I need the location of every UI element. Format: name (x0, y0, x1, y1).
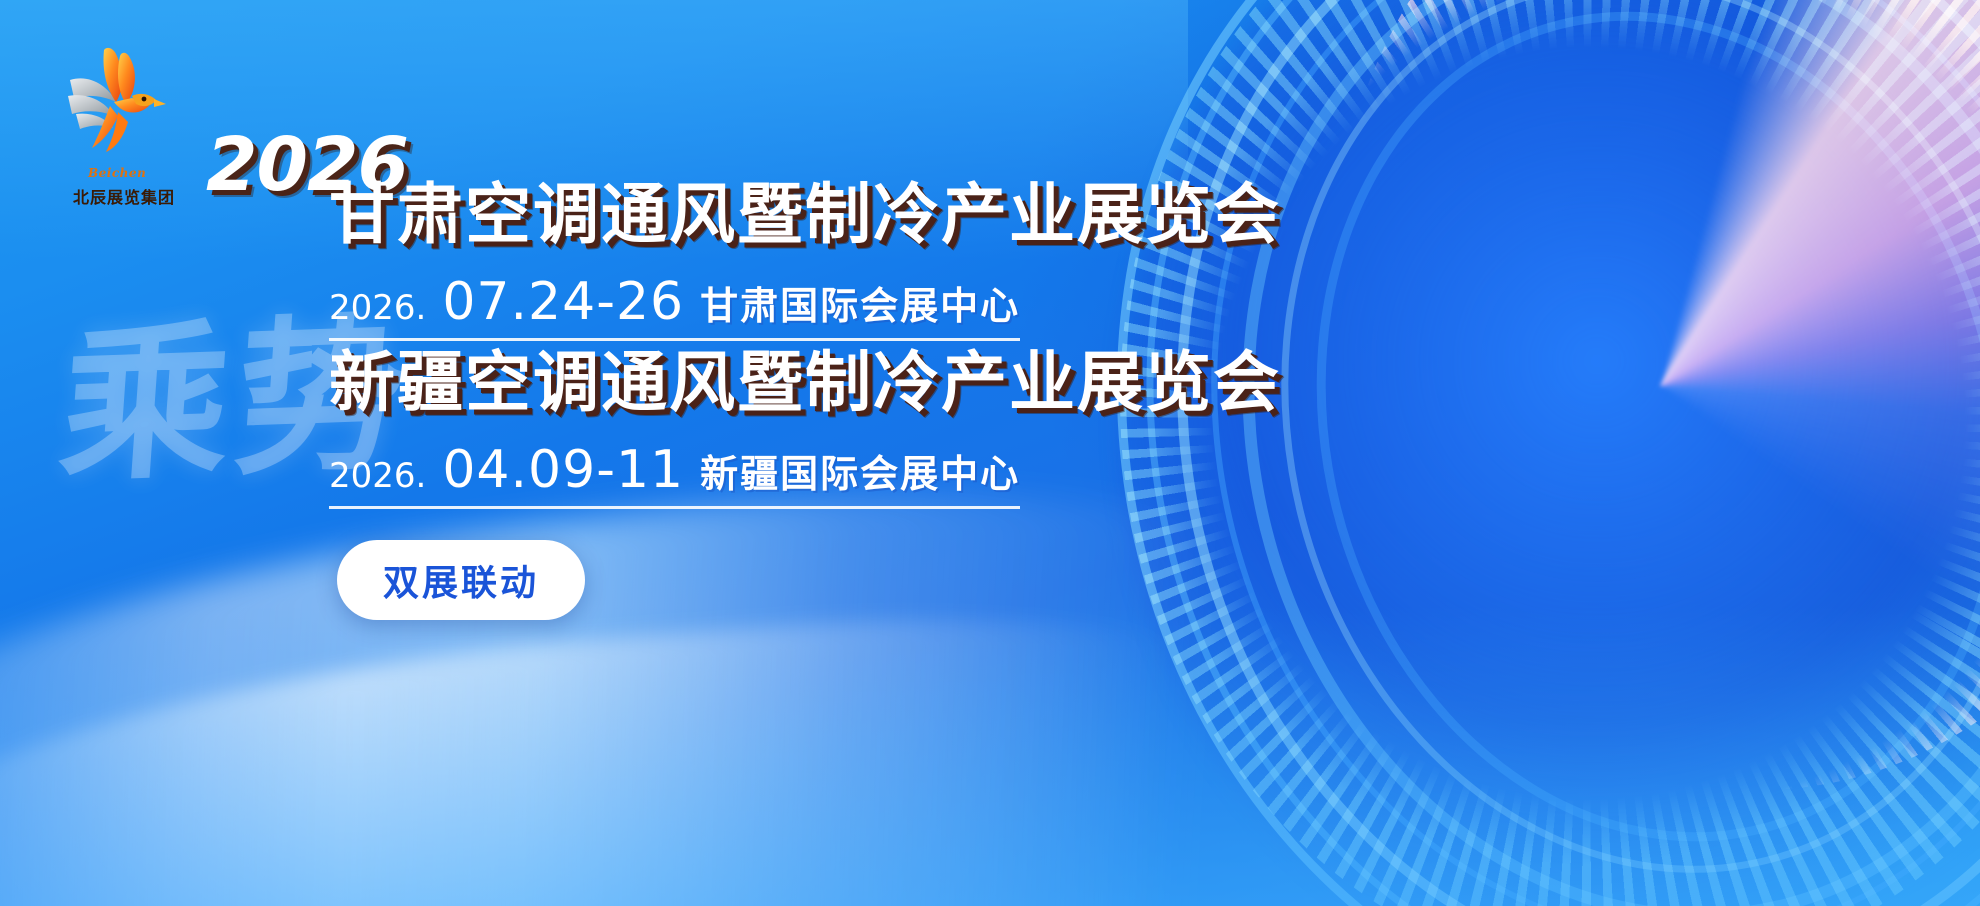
event-title-secondary: 新疆空调通风暨制冷产业展览会 (329, 350, 1281, 416)
logo-chinese-name: 北辰展览集团 (64, 184, 184, 208)
event-date-secondary: 04.09-11 (442, 440, 684, 500)
event-meta-primary: 2026. 07.24-26 甘肃国际会展中心 (329, 272, 1020, 341)
logo-latin-name: Beichen (88, 166, 146, 180)
brand-logo-block[interactable]: Beichen 北辰展览集团 2026 (58, 44, 338, 194)
phoenix-bird-logo-icon (58, 44, 178, 164)
event-title-primary: 甘肃空调通风暨制冷产业展览会 (329, 182, 1281, 248)
banner-content: 甘肃空调通风暨制冷产业展览会 2026. 07.24-26 甘肃国际会展中心 新… (325, 0, 1525, 906)
dual-expo-badge[interactable]: 双展联动 (337, 540, 585, 620)
exhibition-banner: 乘势 (0, 0, 1980, 906)
event-venue-primary: 甘肃国际会展中心 (700, 275, 1020, 330)
event-venue-secondary: 新疆国际会展中心 (700, 443, 1020, 498)
event-year-primary: 2026. (329, 288, 426, 328)
event-year-secondary: 2026. (329, 456, 426, 496)
event-date-primary: 07.24-26 (442, 272, 684, 332)
event-meta-secondary: 2026. 04.09-11 新疆国际会展中心 (329, 440, 1020, 509)
